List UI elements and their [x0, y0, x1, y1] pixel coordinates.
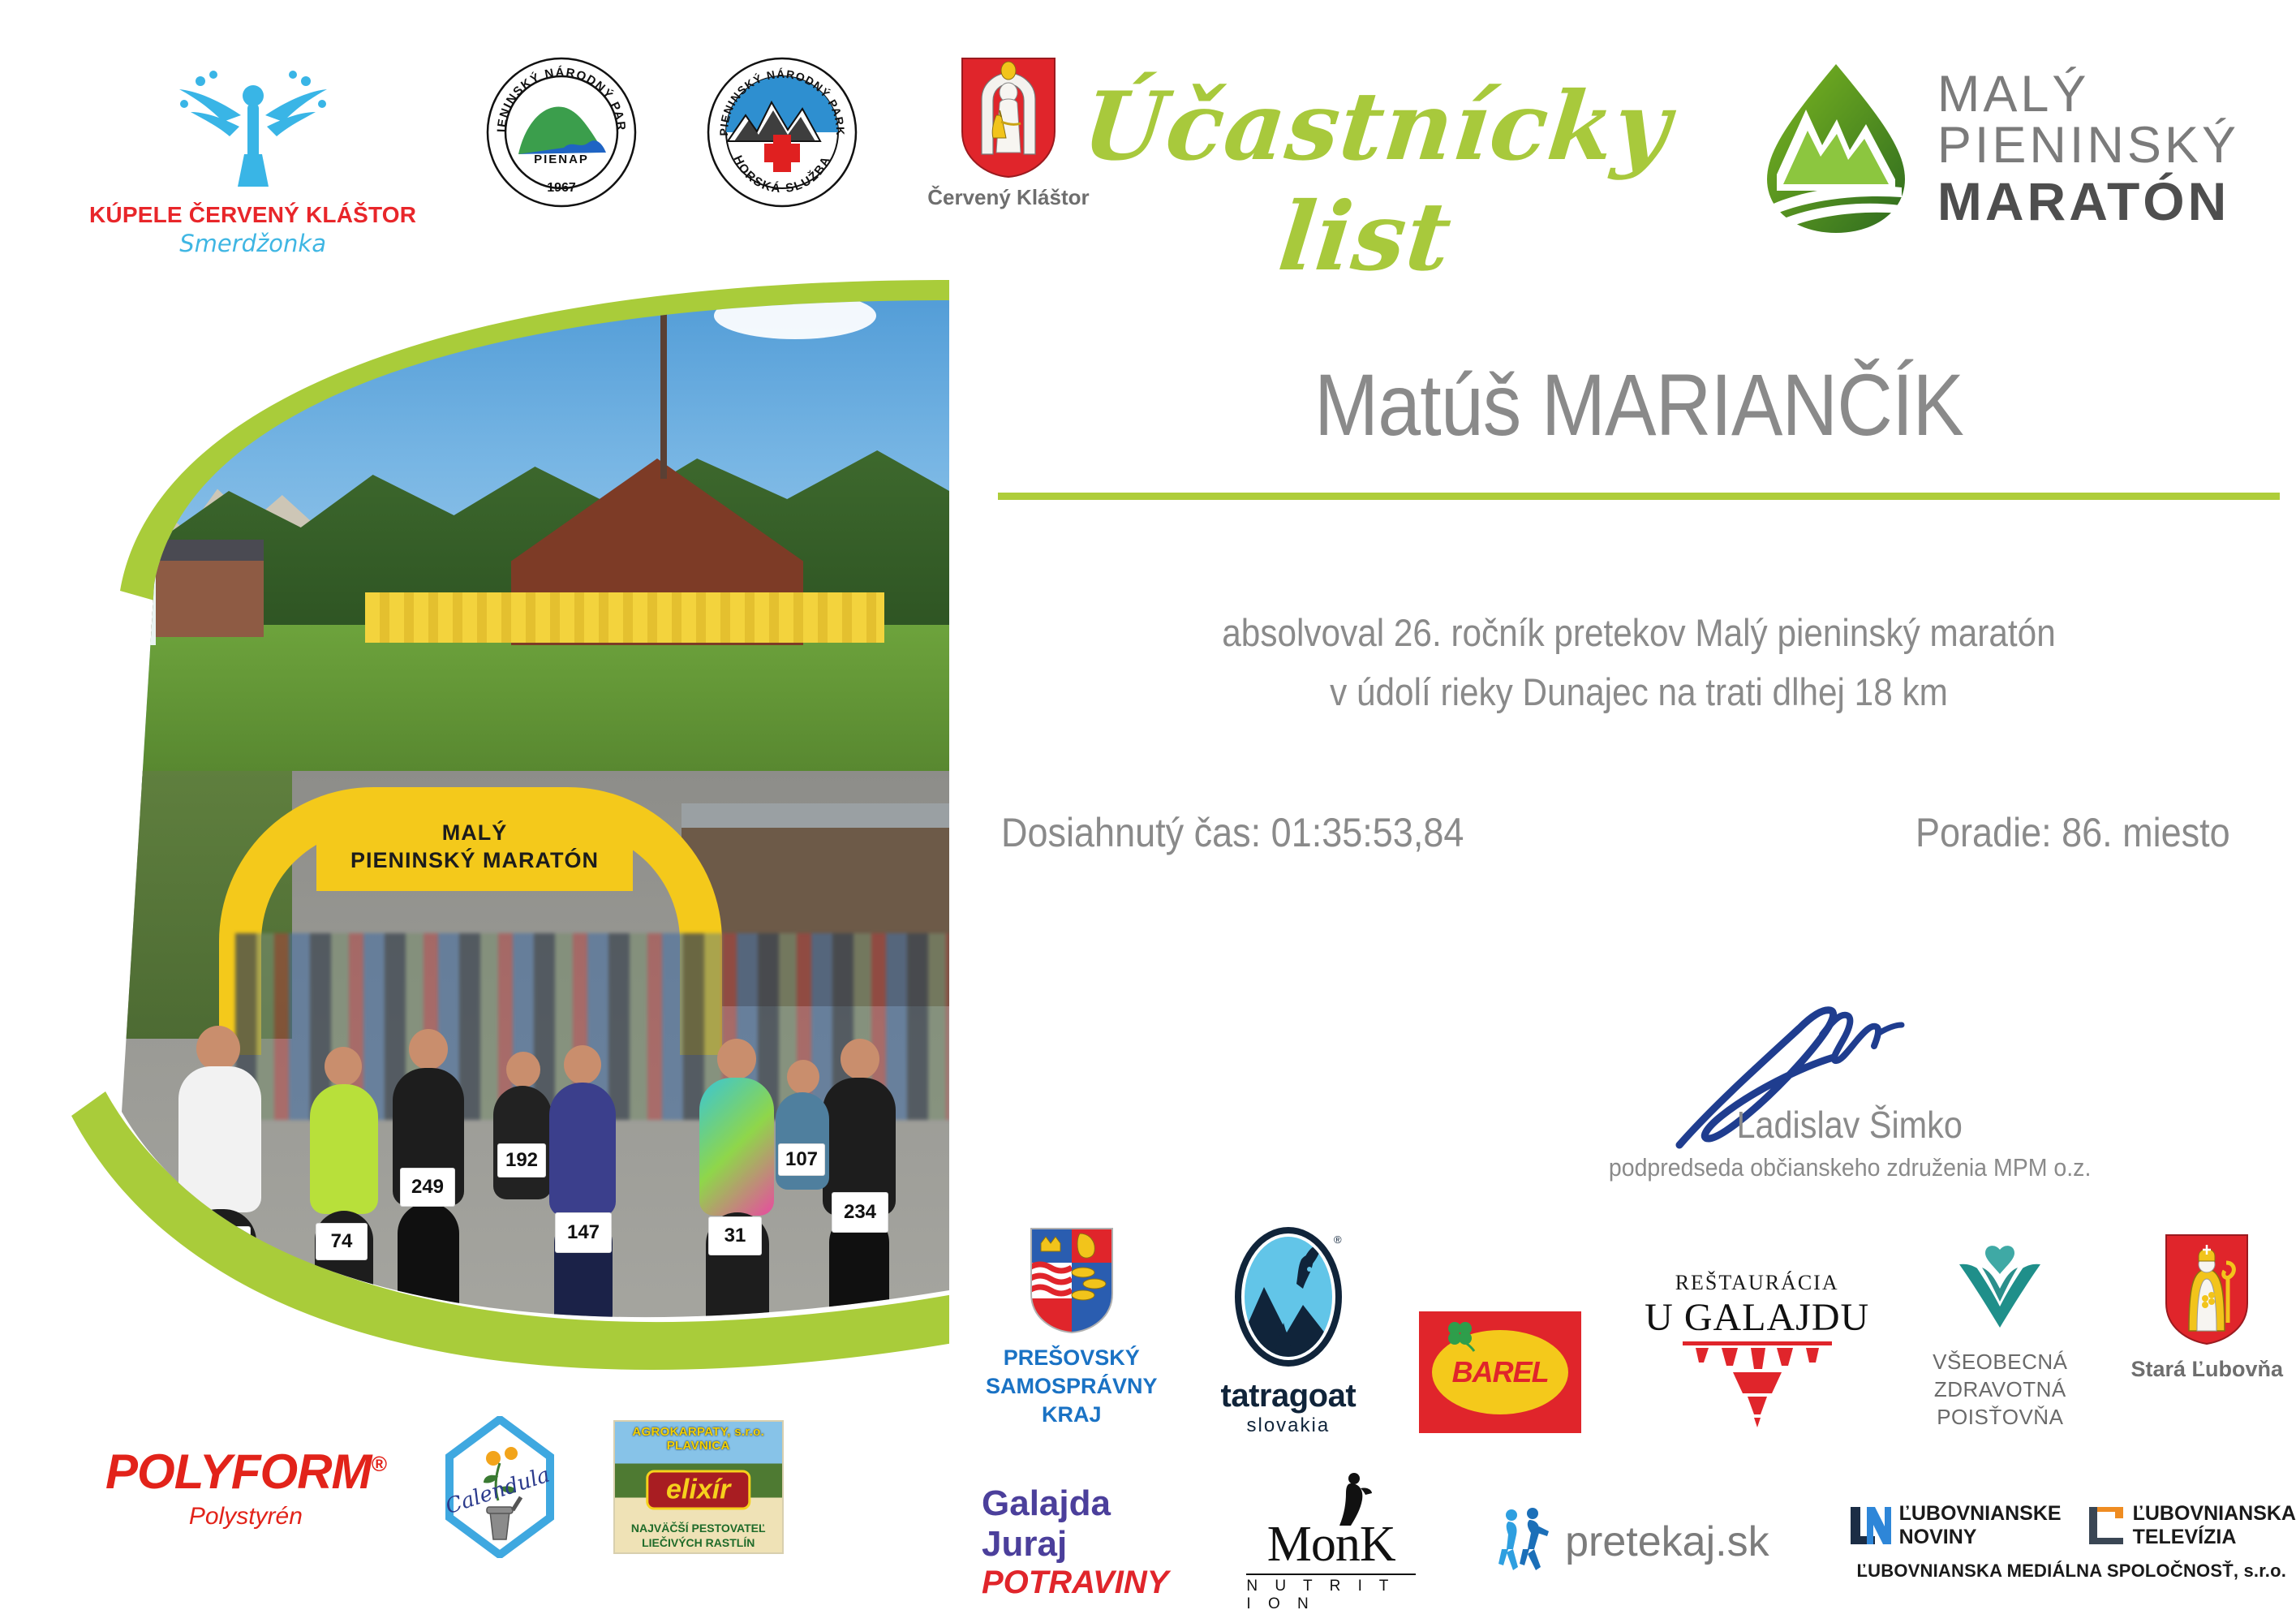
runners-icon	[1494, 1507, 1554, 1577]
logo-line-2: PIENINSKÝ	[1937, 120, 2239, 171]
monk-wordmark: MonK	[1267, 1516, 1395, 1573]
galajdu-line-2: U GALAJDU	[1645, 1295, 1869, 1340]
results-row: Dosiahnutý čas: 01:35:53,84 Poradie: 86.…	[998, 809, 2280, 856]
bib-number: 31	[709, 1217, 761, 1255]
sponsor-pretekaj-sk: pretekaj.sk	[1494, 1507, 1769, 1577]
elixir-bottom-line-1: NAJVÄČŠÍ PESTOVATEĽ	[615, 1522, 782, 1536]
bib-number: 107	[779, 1144, 824, 1175]
svg-text:PIENAP: PIENAP	[534, 153, 589, 166]
folk-ornament-icon	[1676, 1340, 1838, 1429]
galajdu-line-1: REŠTAURÁCIA	[1675, 1271, 1839, 1295]
sponsor-calendula: Calendula	[443, 1416, 557, 1558]
result-time: Dosiahnutý čas: 01:35:53,84	[1001, 809, 1464, 856]
psk-line-3: KRAJ	[986, 1401, 1158, 1429]
tatragoat-wordmark: tatragoat	[1221, 1378, 1357, 1414]
mountain-rescue-seal-icon: PIENINSKÝ NÁRODNÝ PARK HORSKÁ SLUŽBA	[707, 57, 858, 208]
sponsor-u-galajdu: REŠTAURÁCIA U GALAJDU	[1645, 1271, 1869, 1429]
tatragoat-sublabel: slovakia	[1246, 1414, 1330, 1437]
arch-banner: MALÝ PIENINSKÝ MARATÓN	[316, 803, 633, 891]
photo-collage: MALÝ PIENINSKÝ MARATÓN 209 74	[49, 203, 949, 1404]
recipient-name: Matúš MARIANČÍK	[1075, 357, 2203, 454]
sponsor-row-primary: PREŠOVSKÝ SAMOSPRÁVNY KRAJ ® tat	[986, 1227, 2283, 1437]
vszp-line-3: POISŤOVŇA	[1933, 1404, 2067, 1431]
elixir-top-label: AGROKARPATY, s.r.o. PLAVNICA	[615, 1425, 782, 1453]
monk-sublabel: N U T R I T I O N	[1246, 1573, 1416, 1613]
sponsor-monk-nutrition: MonK N U T R I T I O N	[1246, 1470, 1416, 1613]
elixir-wordmark: elixír	[646, 1470, 750, 1509]
pretekaj-wordmark: pretekaj.sk	[1565, 1518, 1769, 1566]
calendula-icon: Calendula	[443, 1416, 557, 1558]
partner-horska-sluzba: PIENINSKÝ NÁRODNÝ PARK HORSKÁ SLUŽBA	[707, 57, 858, 208]
sponsor-barel: BAREL	[1419, 1311, 1581, 1433]
ln-line-1: ĽUBOVNIANSKE	[1899, 1502, 2062, 1526]
psk-line-2: SAMOSPRÁVNY	[986, 1372, 1158, 1401]
name-divider	[998, 493, 2280, 500]
statement: absolvoval 26. ročník pretekov Malý pien…	[1062, 604, 2216, 722]
svg-text:®: ®	[1334, 1233, 1342, 1246]
ln-line-2: NOVINY	[1899, 1526, 2062, 1549]
runner: 107	[763, 1055, 844, 1266]
sponsor-elixir: AGROKARPATY, s.r.o. PLAVNICA elixír NAJV…	[613, 1420, 784, 1554]
signer-name: Ladislav Šimko	[1737, 1103, 1963, 1147]
vszp-label: VŠEOBECNÁ ZDRAVOTNÁ POISŤOVŇA	[1933, 1349, 2067, 1431]
lubovnianske-noviny: ĽUBOVNIANSKE NOVINY	[1847, 1502, 2062, 1549]
mpm-leaf-mountain-icon	[1759, 61, 1913, 235]
arch-line-2: PIENINSKÝ MARATÓN	[350, 847, 599, 875]
psk-label: PREŠOVSKÝ SAMOSPRÁVNY KRAJ	[986, 1344, 1158, 1429]
psk-shield-icon	[1030, 1227, 1114, 1334]
statement-line-2: v údolí rieky Dunajec na trati dlhej 18 …	[1062, 663, 2216, 722]
stara-lubovna-label: Stará Ľubovňa	[2130, 1355, 2283, 1384]
galajda-line-2: POTRAVINY	[982, 1565, 1168, 1601]
registered-icon: ®	[372, 1452, 386, 1476]
elixir-bottom-label: NAJVÄČŠÍ PESTOVATEĽ LIEČIVÝCH RASTLÍN	[615, 1522, 782, 1550]
sponsor-lubovnianska-medialna: ĽUBOVNIANSKE NOVINY ĽUBOVNIANSKA TELEVÍZ…	[1847, 1502, 2296, 1582]
tatragoat-icon: ®	[1233, 1227, 1344, 1373]
polyform-wordmark: POLYFORM®	[105, 1444, 386, 1500]
lt-line-2: TELEVÍZIA	[2133, 1526, 2296, 1549]
event-logo-words: MALÝ PIENINSKÝ MARATÓN	[1937, 69, 2239, 228]
galajda-line-1: Galajda Juraj	[982, 1483, 1168, 1565]
partner-pieninsky-narodny-park: PIENAP PIENINSKÝ NÁRODNÝ PARK 1967	[486, 57, 637, 208]
sponsor-polyform: POLYFORM® Polystyrén	[105, 1444, 386, 1530]
polyform-sublabel: Polystyrén	[189, 1503, 303, 1530]
stara-lubovna-coat-of-arms-icon	[2165, 1233, 2249, 1345]
vszp-line-1: VŠEOBECNÁ	[1933, 1349, 2067, 1376]
vszp-icon	[1951, 1242, 2049, 1339]
lt-line-1: ĽUBOVNIANSKA	[2133, 1502, 2296, 1526]
ln-logo-icon	[1847, 1505, 1893, 1546]
clover-icon	[1443, 1319, 1477, 1353]
bib-number: 74	[316, 1224, 367, 1259]
signature-block: Ladislav Šimko podpredseda občianskeho z…	[1541, 1002, 2158, 1182]
logo-line-1: MALÝ	[1937, 69, 2239, 120]
sponsor-galajda-juraj: Galajda Juraj POTRAVINY	[982, 1483, 1168, 1601]
lubovnianska-televizia: ĽUBOVNIANSKA TELEVÍZIA	[2086, 1502, 2296, 1549]
sponsor-vszp: VŠEOBECNÁ ZDRAVOTNÁ POISŤOVŇA	[1933, 1242, 2067, 1431]
certificate-body: Matúš MARIANČÍK absolvoval 26. ročník pr…	[998, 357, 2280, 856]
left-sponsor-strip: POLYFORM® Polystyrén Calendula	[105, 1416, 784, 1558]
svg-text:1967: 1967	[547, 181, 576, 195]
sponsor-stara-lubovna: Stará Ľubovňa	[2130, 1233, 2283, 1384]
arch-line-1: MALÝ	[442, 820, 508, 847]
sponsor-tatragoat: ® tatragoat slovakia	[1221, 1227, 1357, 1437]
lmedia-footer: ĽUBOVNIANSKA MEDIÁLNA SPOLOČNOSŤ, s.r.o.	[1857, 1561, 2287, 1582]
polyform-label: POLYFORM	[105, 1444, 372, 1499]
psk-line-1: PREŠOVSKÝ	[986, 1344, 1158, 1372]
statement-line-1: absolvoval 26. ročník pretekov Malý pien…	[1062, 604, 2216, 663]
national-park-seal-icon: PIENAP PIENINSKÝ NÁRODNÝ PARK 1967	[486, 57, 637, 208]
event-logo: MALÝ PIENINSKÝ MARATÓN	[1759, 61, 2239, 235]
result-rank: Poradie: 86. miesto	[1915, 809, 2230, 856]
barel-wordmark: BAREL	[1452, 1355, 1549, 1389]
logo-line-3: MARATÓN	[1937, 174, 2239, 228]
sponsor-row-secondary: Galajda Juraj POTRAVINY MonK N U T R I T…	[982, 1470, 2296, 1613]
spa-angel-icon	[160, 57, 346, 199]
page-title: Účastnícky list	[1019, 71, 1724, 292]
sponsor-presovsky-samospravny-kraj: PREŠOVSKÝ SAMOSPRÁVNY KRAJ	[986, 1227, 1158, 1429]
bib-number: 249	[401, 1169, 454, 1206]
bib-number: 147	[556, 1213, 611, 1252]
signer-role: podpredseda občianskeho združenia MPM o.…	[1609, 1153, 2092, 1182]
vszp-line-2: ZDRAVOTNÁ	[1933, 1376, 2067, 1404]
lt-logo-icon	[2086, 1505, 2126, 1546]
elixir-bottom-line-2: LIEČIVÝCH RASTLÍN	[615, 1536, 782, 1551]
